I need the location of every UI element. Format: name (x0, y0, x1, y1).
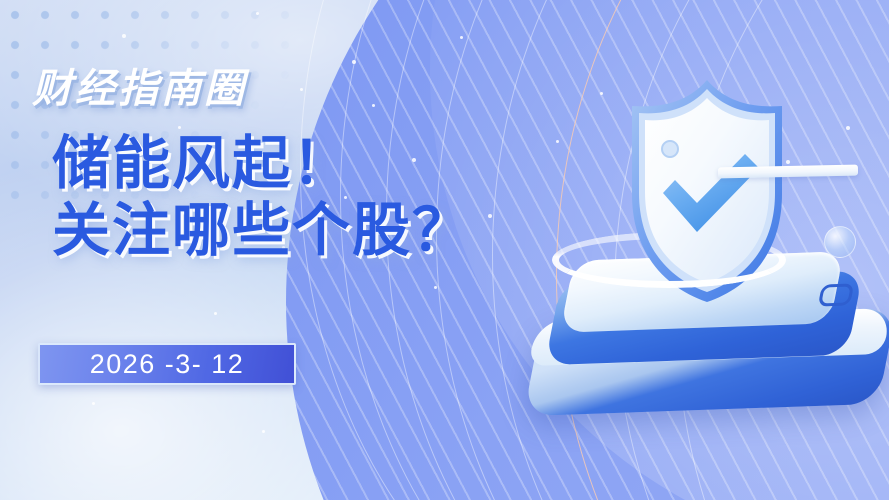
promo-banner: 财经指南圈 储能风起！ 关注哪些个股？ 2026 -3- 12 (0, 0, 889, 500)
headline-line-1: 储能风起！ (52, 130, 472, 197)
headline-line-2: 关注哪些个股？ (52, 197, 472, 264)
date-badge: 2026 -3- 12 (38, 343, 296, 385)
page-title: 储能风起！ 关注哪些个股？ (52, 130, 472, 265)
brand-logo: 财经指南圈 (32, 56, 247, 114)
banner-content: 财经指南圈 储能风起！ 关注哪些个股？ 2026 -3- 12 (0, 0, 889, 500)
